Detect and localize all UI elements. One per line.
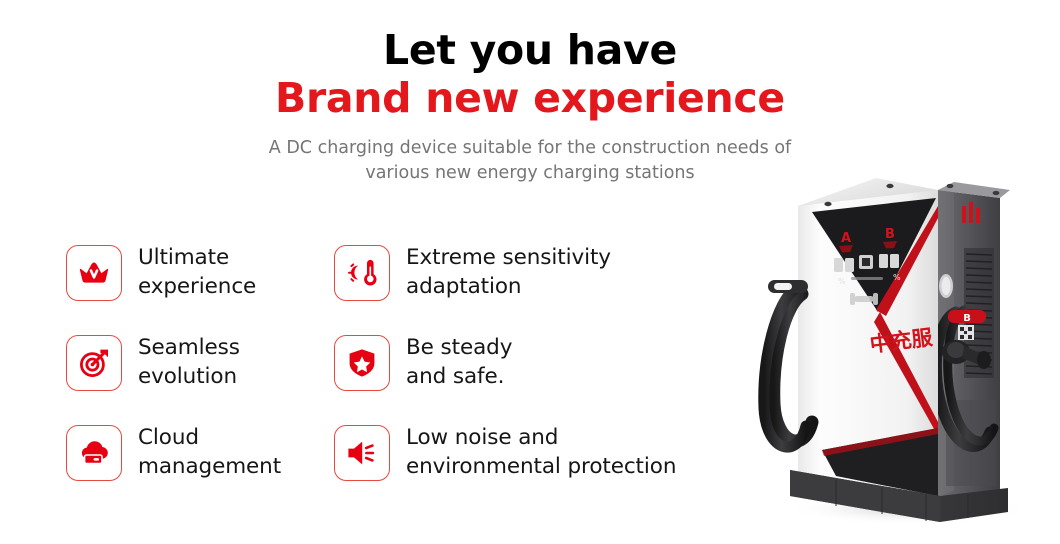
display-unit-a: % [838,277,846,286]
feature-label: Seamless evolution [138,334,240,392]
crown-icon [66,245,122,301]
target-dart-icon [66,335,122,391]
display-port-a-label: A [841,231,851,246]
connector-badge-label: B [963,313,971,324]
feature-item-low-noise: Low noise and environmental protection [334,408,734,498]
display-port-b-label: B [885,227,895,242]
display-unit-b: % [893,273,901,282]
cloud-server-icon [66,425,122,481]
shield-star-icon [334,335,390,391]
feature-item-be-steady-and-safe: Be steady and safe. [334,318,734,408]
page-title-line-1: Let you have [268,28,792,72]
headline-block: Let you have Brand new experience A DC c… [268,28,792,186]
product-image-dc-charging-station: B [750,160,1060,544]
feature-item-cloud-management: Cloud management [66,408,334,498]
feature-label: Ultimate experience [138,244,256,302]
feature-label: Cloud management [138,424,281,482]
feature-label: Low noise and environmental protection [406,424,676,482]
feature-label: Extreme sensitivity adaptation [406,244,611,302]
feature-item-extreme-sensitivity: Extreme sensitivity adaptation [334,228,734,318]
thermometer-sun-icon [334,245,390,301]
feature-label: Be steady and safe. [406,334,512,392]
page-subtitle: A DC charging device suitable for the co… [268,136,792,186]
page-title-line-2: Brand new experience [268,76,792,122]
feature-item-seamless-evolution: Seamless evolution [66,318,334,408]
feature-grid: Ultimate experience Extreme sensitivity [0,228,760,498]
banner-root: Let you have Brand new experience A DC c… [0,0,1060,544]
feature-item-ultimate-experience: Ultimate experience [66,228,334,318]
speaker-volume-icon [334,425,390,481]
